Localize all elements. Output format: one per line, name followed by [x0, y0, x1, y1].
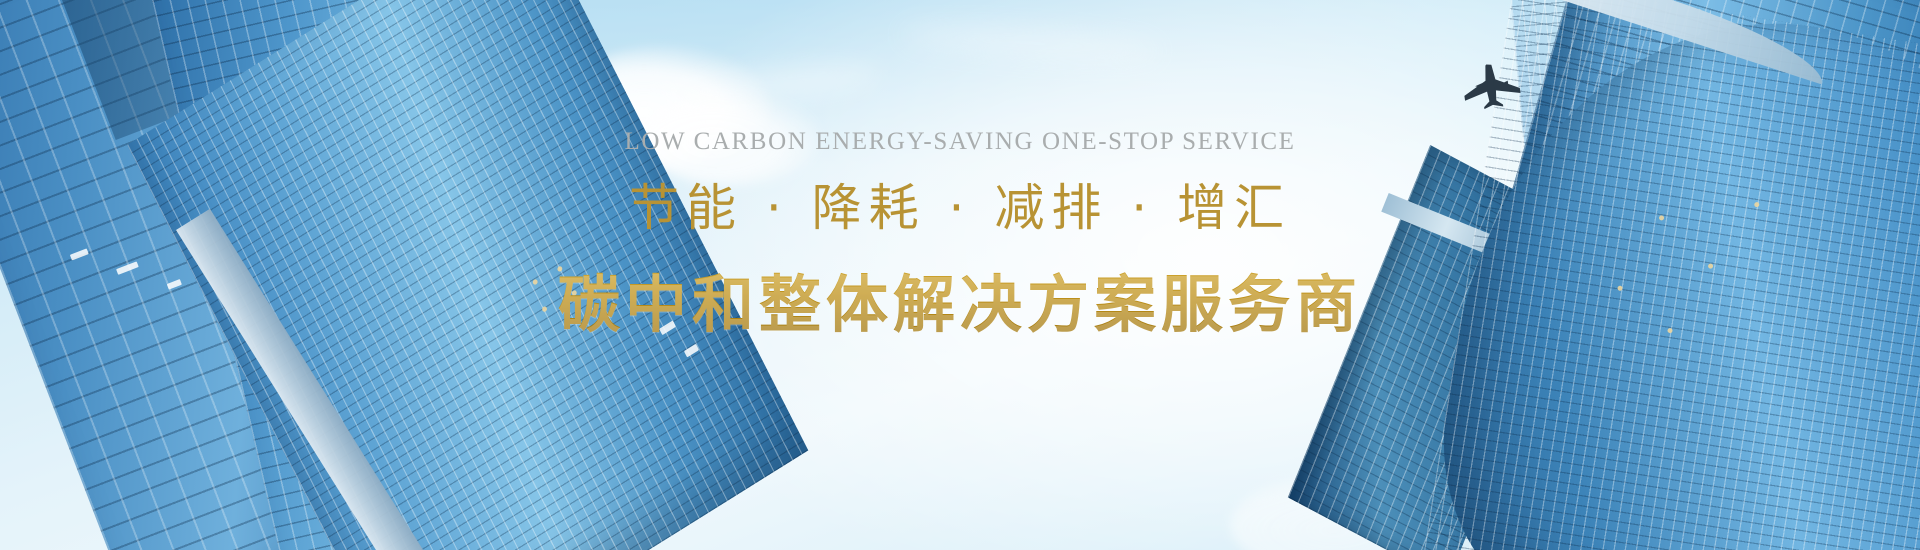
airplane-icon [1452, 53, 1531, 115]
hero-banner: LOW CARBON ENERGY-SAVING ONE-STOP SERVIC… [0, 0, 1920, 550]
cloud-puff [640, 90, 820, 186]
